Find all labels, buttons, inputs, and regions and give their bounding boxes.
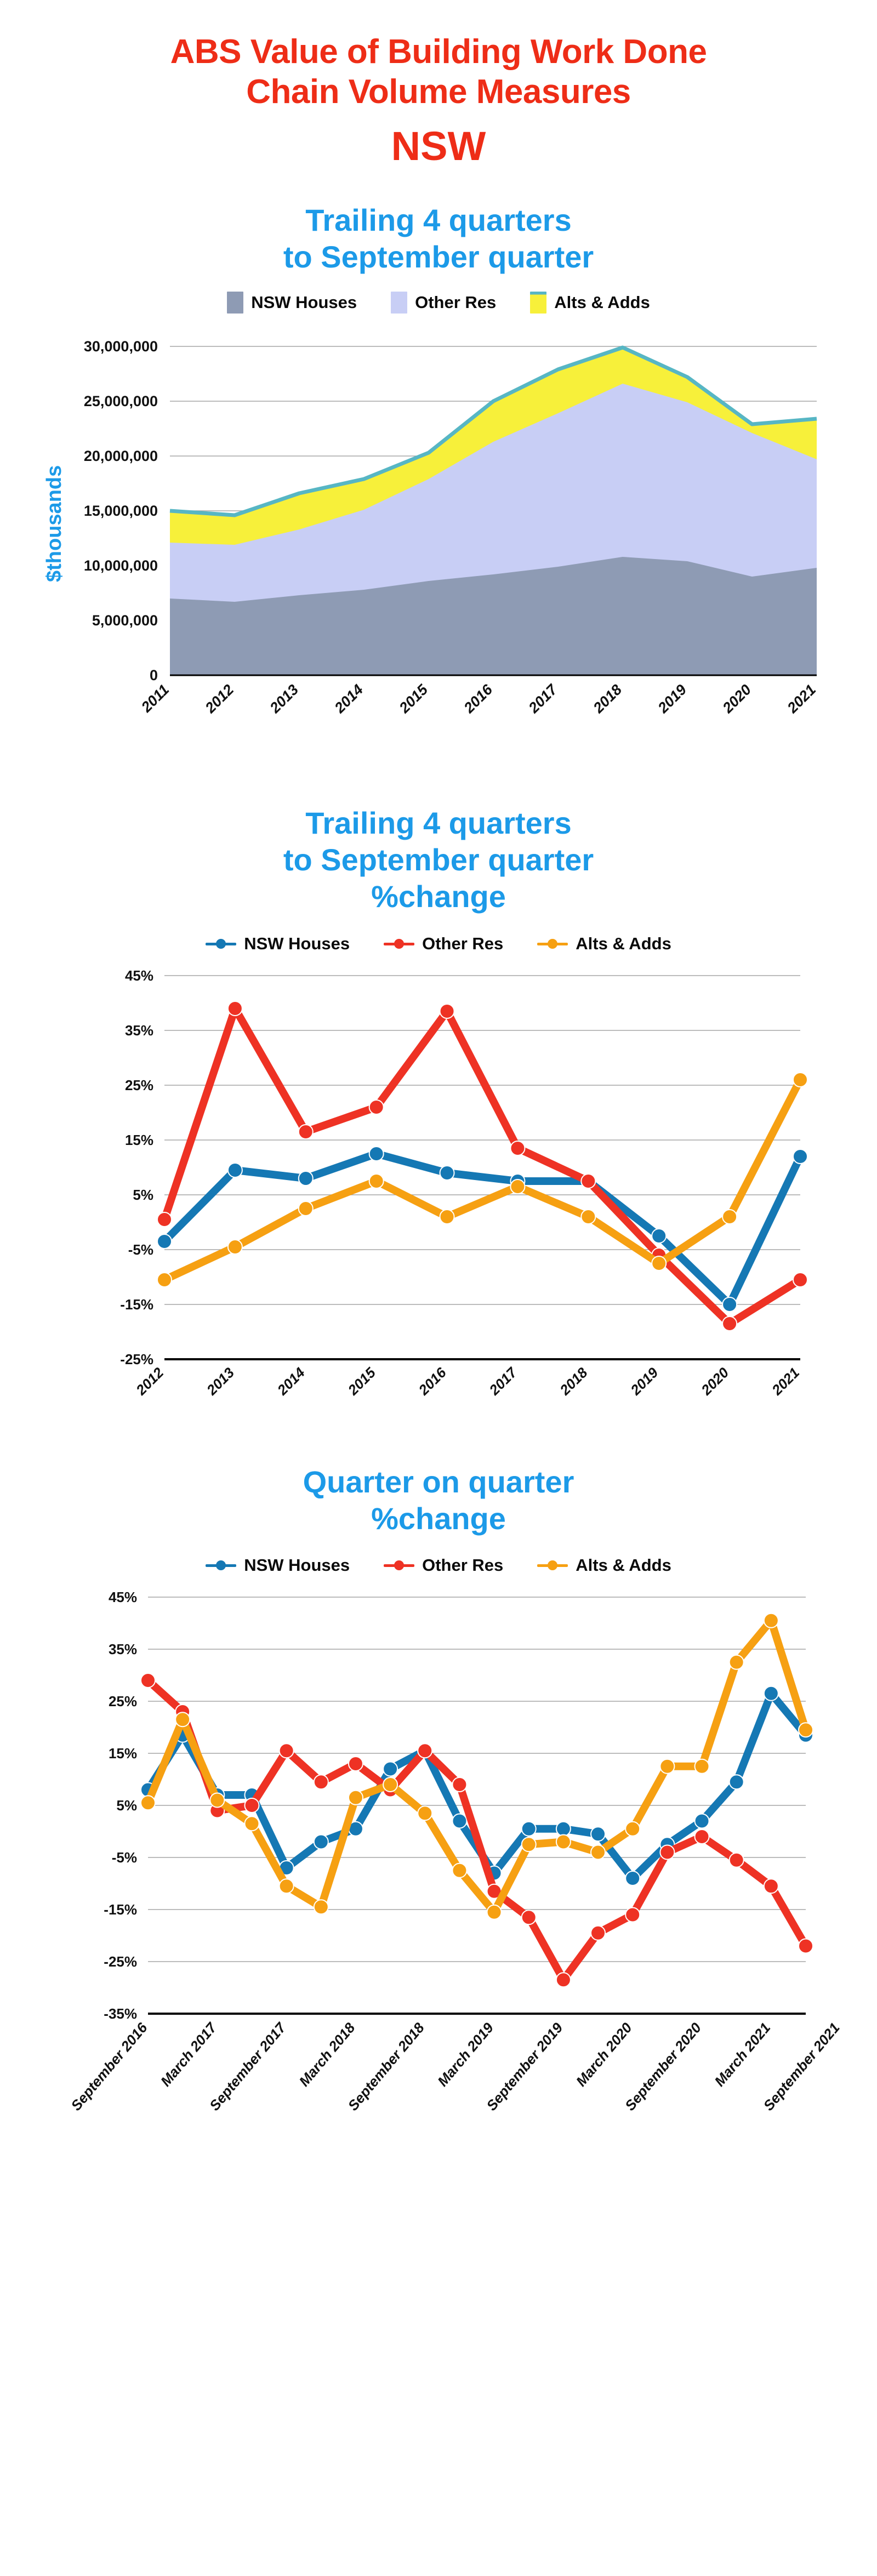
chart2-x-tick-label: 2015 bbox=[344, 1364, 379, 1398]
chart2-y-tick-label: 15% bbox=[125, 1132, 153, 1148]
chart2-series-alts-adds-point bbox=[722, 1210, 737, 1224]
chart2-series-nsw-houses-point bbox=[440, 1166, 454, 1180]
chart3-line-chart: 45%35%25%15%5%-5%-15%-25%-35%September 2… bbox=[0, 1575, 877, 2151]
legend-line-marker-nsw-houses bbox=[206, 1560, 236, 1570]
chart2-x-tick-label: 2013 bbox=[203, 1364, 237, 1398]
section2-title: Trailing 4 quarters to September quarter… bbox=[0, 805, 877, 915]
chart3-series-alts-adds-point bbox=[799, 1723, 813, 1737]
section1-title-line1: Trailing 4 quarters bbox=[0, 202, 877, 238]
chart2-x-tick-label: 2019 bbox=[627, 1364, 662, 1398]
chart2-series-alts-adds-point bbox=[652, 1256, 666, 1270]
chart2-x-tick-label: 2012 bbox=[132, 1364, 167, 1398]
section3-title-line1: Quarter on quarter bbox=[0, 1463, 877, 1500]
chart3-series-other-res-point bbox=[556, 1973, 571, 1987]
chart2-series-nsw-houses-point bbox=[157, 1234, 172, 1249]
section2-title-line3: %change bbox=[0, 878, 877, 915]
chart3-series-alts-adds-point bbox=[452, 1863, 466, 1878]
chart2-series-alts-adds-point bbox=[440, 1210, 454, 1224]
chart2-x-tick-label: 2021 bbox=[768, 1364, 802, 1399]
chart3-y-tick-label: -25% bbox=[104, 1953, 137, 1970]
chart2-series-alts-adds-point bbox=[510, 1179, 525, 1194]
chart3-legend-item-nsw-houses[interactable]: NSW Houses bbox=[206, 1555, 350, 1575]
chart2-series-nsw-houses-point bbox=[228, 1163, 242, 1177]
legend-line-marker-other-res bbox=[384, 1560, 414, 1570]
chart3-series-nsw-houses-point bbox=[522, 1822, 536, 1836]
chart2-series-other-res-point bbox=[369, 1100, 384, 1114]
chart3-series-other-res-point bbox=[522, 1910, 536, 1924]
chart1-x-tick-label: 2012 bbox=[202, 681, 237, 716]
chart3-series-nsw-houses-line bbox=[148, 1694, 806, 1878]
chart1-legend-label-alts-adds: Alts & Adds bbox=[554, 293, 650, 312]
chart3-series-other-res-point bbox=[764, 1879, 778, 1893]
chart2-series-other-res-point bbox=[299, 1125, 313, 1139]
chart3-series-other-res-point bbox=[349, 1757, 363, 1771]
chart1-x-tick-label: 2011 bbox=[138, 681, 172, 716]
chart2-series-alts-adds-point bbox=[793, 1073, 807, 1087]
chart2-legend-item-nsw-houses[interactable]: NSW Houses bbox=[206, 934, 350, 954]
chart3-x-tick-label: March 2017 bbox=[157, 2019, 220, 2089]
chart1-x-tick-label: 2018 bbox=[590, 681, 625, 716]
chart2-series-nsw-houses-point bbox=[652, 1229, 666, 1243]
chart2-series-alts-adds-point bbox=[581, 1210, 595, 1224]
chart3-series-other-res-point bbox=[141, 1673, 155, 1688]
section3-title-line2: %change bbox=[0, 1500, 877, 1537]
chart3-legend-item-other-res[interactable]: Other Res bbox=[384, 1555, 503, 1575]
section2-title-line2: to September quarter bbox=[0, 841, 877, 878]
legend-line-marker-nsw-houses bbox=[206, 939, 236, 949]
chart1-legend-label-other-res: Other Res bbox=[415, 293, 496, 312]
chart1-legend: NSW Houses Other Res Alts & Adds bbox=[0, 292, 877, 314]
section1-title-line2: to September quarter bbox=[0, 238, 877, 275]
chart1-plot: 30,000,00025,000,00020,000,00015,000,000… bbox=[0, 314, 877, 779]
chart3-series-nsw-houses-point bbox=[695, 1814, 709, 1828]
chart1-x-tick-label: 2019 bbox=[654, 681, 690, 716]
chart3-series-other-res-point bbox=[799, 1939, 813, 1953]
chart1-y-tick-label: 25,000,000 bbox=[84, 393, 158, 409]
legend-line-marker-other-res bbox=[384, 939, 414, 949]
chart3-x-tick-label: September 2018 bbox=[345, 2019, 428, 2113]
chart3-series-alts-adds-point bbox=[695, 1759, 709, 1774]
chart3-x-tick-label: September 2017 bbox=[206, 2019, 289, 2113]
chart1-x-tick-label: 2017 bbox=[525, 681, 561, 717]
chart2-series-nsw-houses-point bbox=[299, 1171, 313, 1186]
chart2-x-tick-label: 2014 bbox=[274, 1364, 308, 1398]
chart3-y-tick-label: 15% bbox=[109, 1745, 137, 1762]
chart2-legend-item-alts-adds[interactable]: Alts & Adds bbox=[537, 934, 671, 954]
chart1-x-tick-label: 2014 bbox=[331, 681, 366, 716]
legend-swatch-other-res bbox=[391, 292, 407, 314]
chart2-series-nsw-houses-point bbox=[369, 1147, 384, 1161]
chart3-legend-label-alts-adds: Alts & Adds bbox=[576, 1555, 671, 1575]
chart3-series-other-res-point bbox=[625, 1908, 640, 1922]
chart2-series-nsw-houses-point bbox=[722, 1297, 737, 1312]
chart3-x-tick-label: March 2019 bbox=[434, 2019, 497, 2089]
chart3-series-nsw-houses-point bbox=[383, 1762, 397, 1776]
chart3-plot: 45%35%25%15%5%-5%-15%-25%-35%September 2… bbox=[0, 1575, 877, 2151]
chart3-series-alts-adds-point bbox=[487, 1905, 502, 1919]
chart3-y-tick-label: 35% bbox=[109, 1641, 137, 1657]
chart3-series-nsw-houses-point bbox=[625, 1871, 640, 1885]
legend-swatch-nsw-houses bbox=[227, 292, 243, 314]
section2-title-line1: Trailing 4 quarters bbox=[0, 805, 877, 841]
page-title-line2: Chain Volume Measures bbox=[0, 72, 877, 112]
chart1-y-tick-label: 15,000,000 bbox=[84, 503, 158, 519]
chart3-legend-item-alts-adds[interactable]: Alts & Adds bbox=[537, 1555, 671, 1575]
chart2-legend-item-other-res[interactable]: Other Res bbox=[384, 934, 503, 954]
chart2-x-tick-label: 2016 bbox=[415, 1364, 449, 1398]
chart1-legend-label-nsw-houses: NSW Houses bbox=[251, 293, 357, 312]
chart3-series-alts-adds-point bbox=[764, 1614, 778, 1628]
chart3-x-tick-label: March 2021 bbox=[711, 2020, 773, 2090]
chart3-series-alts-adds-point bbox=[522, 1837, 536, 1851]
chart2-y-tick-label: 35% bbox=[125, 1022, 153, 1039]
chart3-series-alts-adds-point bbox=[141, 1796, 155, 1810]
chart3-series-alts-adds-point bbox=[730, 1655, 744, 1669]
chart2-legend-label-nsw-houses: NSW Houses bbox=[244, 934, 350, 954]
chart2-x-tick-label: 2018 bbox=[556, 1364, 591, 1398]
chart3-series-alts-adds-point bbox=[210, 1793, 224, 1808]
chart3-series-alts-adds-point bbox=[349, 1791, 363, 1805]
chart3-series-alts-adds-point bbox=[383, 1777, 397, 1792]
chart1-legend-item-alts-adds[interactable]: Alts & Adds bbox=[530, 292, 650, 314]
chart3-y-tick-label: 45% bbox=[109, 1589, 137, 1605]
chart1-y-tick-label: 10,000,000 bbox=[84, 557, 158, 574]
chart3-y-tick-label: -5% bbox=[112, 1849, 137, 1866]
legend-line-marker-alts-adds bbox=[537, 1560, 568, 1570]
chart3-x-tick-label: March 2020 bbox=[573, 2019, 635, 2089]
chart2-series-other-res-point bbox=[510, 1141, 525, 1155]
chart3-series-other-res-point bbox=[244, 1798, 259, 1813]
chart1-y-tick-label: 30,000,000 bbox=[84, 338, 158, 355]
chart3-x-tick-label: September 2021 bbox=[760, 2020, 843, 2114]
chart2-legend-label-other-res: Other Res bbox=[422, 934, 503, 954]
report-page: ABS Value of Building Work Done Chain Vo… bbox=[0, 0, 877, 2576]
chart2-series-other-res-point bbox=[157, 1212, 172, 1227]
chart3-series-alts-adds-point bbox=[280, 1879, 294, 1893]
chart3-y-tick-label: 25% bbox=[109, 1693, 137, 1709]
chart2-legend-label-alts-adds: Alts & Adds bbox=[576, 934, 671, 954]
chart3-series-other-res-point bbox=[314, 1775, 328, 1789]
chart3-series-other-res-point bbox=[418, 1743, 432, 1758]
chart3-series-other-res-point bbox=[730, 1853, 744, 1867]
legend-line-marker-alts-adds bbox=[537, 939, 568, 949]
chart3-series-other-res-point bbox=[695, 1830, 709, 1844]
chart3-x-tick-label: September 2020 bbox=[622, 2019, 705, 2113]
chart3-series-alts-adds-point bbox=[660, 1759, 674, 1774]
chart3-legend: NSW Houses Other Res Alts & Adds bbox=[0, 1555, 877, 1575]
chart3-series-alts-adds-point bbox=[556, 1835, 571, 1849]
chart2-y-tick-label: -25% bbox=[120, 1351, 153, 1367]
chart3-legend-label-nsw-houses: NSW Houses bbox=[244, 1555, 350, 1575]
chart2-series-other-res-point bbox=[722, 1317, 737, 1331]
chart3-x-tick-label: September 2016 bbox=[67, 2019, 151, 2113]
chart1-x-tick-label: 2020 bbox=[719, 681, 754, 716]
chart3-legend-label-other-res: Other Res bbox=[422, 1555, 503, 1575]
chart1-legend-item-nsw-houses[interactable]: NSW Houses bbox=[227, 292, 357, 314]
chart1-area-chart: $thousands 30,000,00025,000,00020,000,00… bbox=[0, 314, 877, 779]
section3-title: Quarter on quarter %change bbox=[0, 1463, 877, 1537]
chart3-series-other-res-point bbox=[452, 1777, 466, 1792]
chart3-series-alts-adds-point bbox=[314, 1900, 328, 1914]
chart2-y-tick-label: 25% bbox=[125, 1077, 153, 1093]
chart3-series-other-res-line bbox=[148, 1680, 806, 1980]
chart3-x-tick-label: September 2019 bbox=[483, 2019, 566, 2113]
chart1-y-axis-label: $thousands bbox=[43, 465, 66, 582]
chart3-series-nsw-houses-point bbox=[730, 1775, 744, 1789]
chart2-series-alts-adds-point bbox=[299, 1201, 313, 1216]
chart1-x-tick-label: 2016 bbox=[460, 681, 496, 716]
chart2-series-other-res-point bbox=[581, 1174, 595, 1188]
region-title: NSW bbox=[0, 124, 877, 168]
chart2-y-tick-label: -15% bbox=[120, 1296, 153, 1313]
chart1-x-tick-label: 2015 bbox=[396, 681, 431, 716]
chart3-y-tick-label: -15% bbox=[104, 1901, 137, 1918]
page-title-line1: ABS Value of Building Work Done bbox=[0, 32, 877, 72]
chart2-series-other-res-point bbox=[228, 1001, 242, 1016]
chart2-series-alts-adds-point bbox=[369, 1174, 384, 1188]
chart2-plot: 45%35%25%15%5%-5%-15%-25%201220132014201… bbox=[0, 954, 877, 1447]
chart3-y-tick-label: 5% bbox=[116, 1797, 137, 1814]
chart1-y-tick-label: 20,000,000 bbox=[84, 448, 158, 464]
chart3-series-alts-adds-point bbox=[418, 1806, 432, 1820]
chart2-x-tick-label: 2020 bbox=[698, 1364, 732, 1398]
chart3-series-alts-adds-point bbox=[244, 1816, 259, 1831]
chart2-y-tick-label: 5% bbox=[133, 1187, 153, 1203]
section1-title: Trailing 4 quarters to September quarter bbox=[0, 202, 877, 275]
chart3-x-tick-label: March 2018 bbox=[296, 2019, 358, 2089]
chart2-y-tick-label: -5% bbox=[128, 1241, 153, 1258]
chart2-series-alts-adds-point bbox=[157, 1273, 172, 1287]
chart1-x-tick-label: 2021 bbox=[784, 681, 819, 716]
chart2-series-nsw-houses-point bbox=[793, 1149, 807, 1164]
chart2-legend: NSW Houses Other Res Alts & Adds bbox=[0, 934, 877, 954]
page-title: ABS Value of Building Work Done Chain Vo… bbox=[0, 0, 877, 112]
chart2-series-other-res-point bbox=[440, 1004, 454, 1018]
chart3-series-nsw-houses-point bbox=[556, 1822, 571, 1836]
chart2-series-alts-adds-point bbox=[228, 1240, 242, 1254]
chart3-y-tick-label: -35% bbox=[104, 2005, 137, 2022]
chart3-series-nsw-houses-point bbox=[591, 1827, 605, 1841]
chart2-line-chart: 45%35%25%15%5%-5%-15%-25%201220132014201… bbox=[0, 954, 877, 1447]
chart1-x-tick-label: 2013 bbox=[266, 681, 301, 716]
chart2-x-tick-label: 2017 bbox=[486, 1364, 521, 1399]
chart3-series-nsw-houses-point bbox=[764, 1686, 778, 1701]
chart1-legend-item-other-res[interactable]: Other Res bbox=[391, 292, 496, 314]
chart1-y-tick-label: 5,000,000 bbox=[92, 612, 158, 629]
legend-swatch-alts-adds bbox=[530, 292, 546, 314]
chart3-series-nsw-houses-point bbox=[314, 1835, 328, 1849]
chart3-series-nsw-houses-point bbox=[452, 1814, 466, 1828]
chart1-y-tick-label: 0 bbox=[150, 667, 158, 683]
chart3-series-alts-adds-point bbox=[175, 1712, 190, 1726]
chart2-y-tick-label: 45% bbox=[125, 967, 153, 984]
chart3-series-other-res-point bbox=[660, 1845, 674, 1860]
chart3-series-alts-adds-point bbox=[625, 1822, 640, 1836]
chart3-series-other-res-point bbox=[591, 1926, 605, 1940]
chart3-series-other-res-point bbox=[280, 1743, 294, 1758]
chart3-series-alts-adds-point bbox=[591, 1845, 605, 1860]
chart2-series-other-res-point bbox=[793, 1273, 807, 1287]
